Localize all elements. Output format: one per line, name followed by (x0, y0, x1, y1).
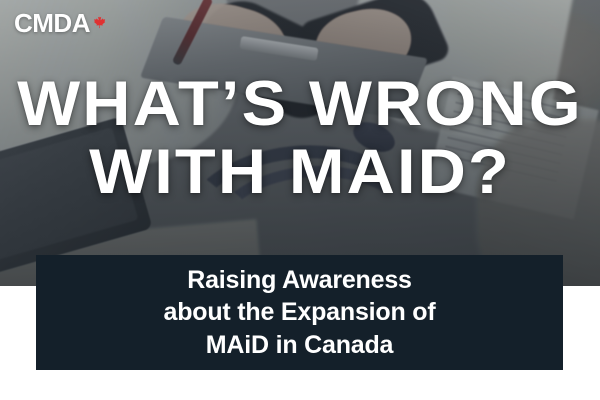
photo-dark-overlay (0, 0, 600, 286)
maid-awareness-banner: CMDA WHAT’S WRONG WITH MAID? Raising Awa… (0, 0, 600, 400)
subtitle-line-3: MAiD in Canada (206, 329, 394, 362)
cmda-logo[interactable]: CMDA (14, 10, 106, 36)
maple-leaf-icon (91, 13, 106, 33)
cmda-logo-text: CMDA (14, 10, 90, 36)
subtitle-panel: Raising Awareness about the Expansion of… (36, 255, 563, 370)
subtitle-line-2: about the Expansion of (164, 296, 436, 329)
hero-photo (0, 0, 600, 286)
subtitle-line-1: Raising Awareness (187, 264, 411, 297)
